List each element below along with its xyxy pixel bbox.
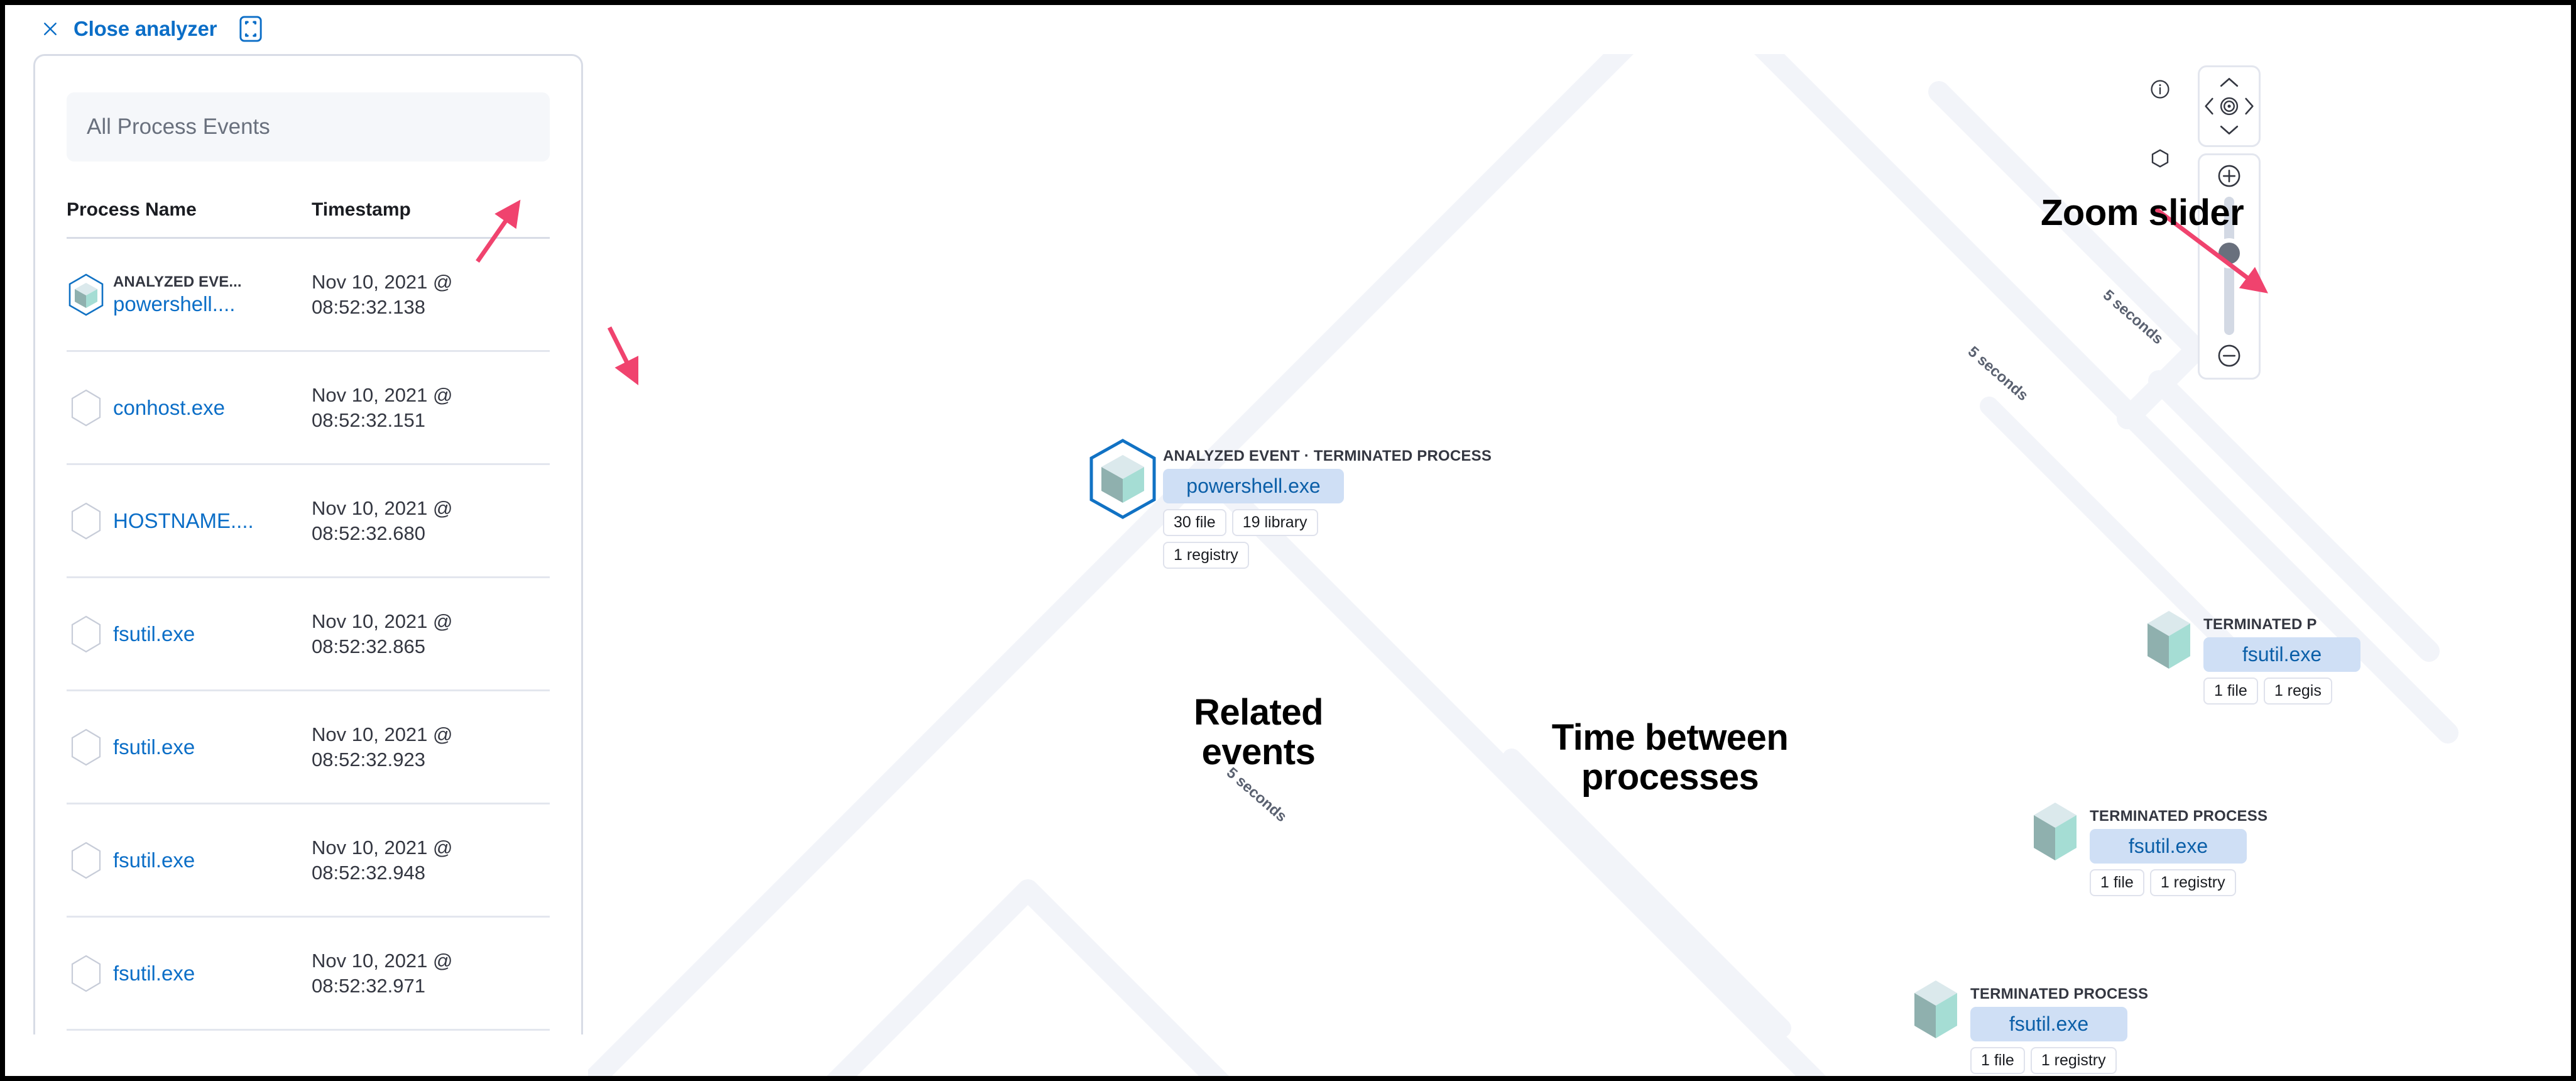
minus-circle-icon[interactable] [2216, 343, 2242, 369]
row-process-name-link[interactable]: fsutil.exe [113, 735, 195, 759]
timestamp-date: Nov 10, 2021 @ [312, 609, 453, 634]
timestamp-date: Nov 10, 2021 @ [312, 948, 453, 974]
table-header: Process Name Timestamp [67, 199, 550, 239]
annotation-time-between-line2: processes [1504, 758, 1836, 798]
hexagon-outline-icon [67, 728, 106, 766]
analyzer-toolbar: Close analyzer [5, 5, 2571, 53]
cell-process-name: fsutil.exe [67, 728, 312, 766]
related-badge-registry[interactable]: 1 registry [2031, 1047, 2117, 1074]
cell-timestamp: Nov 10, 2021 @08:52:32.971 [312, 948, 453, 998]
column-header-process-name: Process Name [67, 199, 312, 221]
node-related-badges: 30 file 19 library 1 registry [1163, 509, 1402, 569]
cell-timestamp: Nov 10, 2021 @08:52:32.680 [312, 496, 453, 546]
related-badge-registry[interactable]: 1 registry [2150, 869, 2236, 896]
graph-node-fsutil-top-right[interactable]: TERMINATED P fsutil.exe 1 file 1 regis [2141, 607, 2360, 705]
pan-control-panel[interactable] [2198, 65, 2261, 147]
related-badge-file[interactable]: 30 file [1163, 509, 1226, 536]
chevron-up-icon[interactable] [2219, 73, 2240, 92]
cell-process-name: HOSTNAME.... [67, 502, 312, 540]
node-related-badges: 1 file 1 regis [2203, 678, 2360, 705]
cell-process-name: fsutil.exe [67, 615, 312, 653]
process-cube-icon [2027, 799, 2083, 871]
hexagon-outline-icon [67, 955, 106, 992]
node-process-name[interactable]: powershell.exe [1163, 469, 1344, 503]
cell-process-name: fsutil.exe [67, 955, 312, 992]
plus-circle-icon[interactable] [2216, 163, 2242, 189]
graph-node-powershell[interactable]: ANALYZED EVENT · TERMINATED PROCESS powe… [1089, 439, 1492, 569]
annotation-zoom-slider: Zoom slider [2041, 194, 2244, 233]
related-badge-library[interactable]: 19 library [1232, 509, 1318, 536]
search-input[interactable]: All Process Events [67, 92, 550, 162]
cell-timestamp: Nov 10, 2021 @08:52:32.151 [312, 383, 453, 432]
zoom-control-panel[interactable] [2198, 153, 2261, 380]
cell-timestamp: Nov 10, 2021 @08:52:32.138 [312, 270, 453, 319]
process-events-list: ANALYZED EVE...powershell....Nov 10, 202… [67, 239, 550, 1031]
process-name-column: fsutil.exe [113, 622, 195, 646]
process-events-panel: All Process Events Process Name Timestam… [33, 54, 583, 1034]
hexagon-outline-icon [67, 842, 106, 879]
chevron-left-icon[interactable] [2203, 96, 2215, 116]
timestamp-date: Nov 10, 2021 @ [312, 835, 453, 860]
close-analyzer-button[interactable]: Close analyzer [74, 17, 217, 41]
table-row[interactable]: HOSTNAME....Nov 10, 2021 @08:52:32.680 [67, 465, 550, 578]
node-eyebrow: TERMINATED P [2203, 616, 2360, 634]
related-badge-file[interactable]: 1 file [2090, 869, 2144, 896]
column-header-timestamp: Timestamp [312, 199, 411, 221]
chevron-down-icon[interactable] [2219, 121, 2240, 140]
timestamp-time: 08:52:32.865 [312, 634, 453, 659]
node-process-name[interactable]: fsutil.exe [2203, 637, 2360, 672]
hexagon-icon[interactable] [2146, 145, 2174, 172]
annotation-related-events: Related events [1167, 693, 1350, 772]
annotation-related-events-line1: Related [1167, 693, 1350, 733]
annotation-related-events-line2: events [1167, 733, 1350, 772]
graph-edges [588, 54, 2576, 1081]
cell-process-name: ANALYZED EVE...powershell.... [67, 273, 312, 316]
node-eyebrow: TERMINATED PROCESS [2090, 808, 2268, 825]
process-name-column: fsutil.exe [113, 962, 195, 985]
cell-timestamp: Nov 10, 2021 @08:52:32.948 [312, 835, 453, 885]
process-cube-icon [2141, 607, 2197, 679]
table-row[interactable]: fsutil.exeNov 10, 2021 @08:52:32.948 [67, 804, 550, 918]
table-row[interactable]: conhost.exeNov 10, 2021 @08:52:32.151 [67, 352, 550, 465]
cell-process-name: fsutil.exe [67, 842, 312, 879]
cell-timestamp: Nov 10, 2021 @08:52:32.865 [312, 609, 453, 659]
graph-node-fsutil-bottom[interactable]: TERMINATED PROCESS fsutil.exe 1 file 1 r… [1907, 977, 2148, 1074]
target-center-icon[interactable] [2218, 95, 2240, 118]
hexagon-outline-icon [67, 389, 106, 427]
timestamp-date: Nov 10, 2021 @ [312, 722, 453, 747]
node-related-badges: 1 file 1 registry [2090, 869, 2268, 896]
timestamp-time: 08:52:32.151 [312, 408, 453, 433]
row-process-name-link[interactable]: fsutil.exe [113, 622, 195, 646]
process-name-column: fsutil.exe [113, 735, 195, 759]
hexagon-outline-icon [67, 502, 106, 540]
row-process-name-link[interactable]: HOSTNAME.... [113, 509, 254, 533]
node-eyebrow: TERMINATED PROCESS [1970, 985, 2148, 1003]
timestamp-time: 08:52:32.971 [312, 974, 453, 999]
row-process-name-link[interactable]: fsutil.exe [113, 848, 195, 872]
process-name-column: fsutil.exe [113, 848, 195, 872]
process-name-column: HOSTNAME.... [113, 509, 254, 533]
process-cube-icon-selected [1089, 439, 1157, 522]
search-placeholder: All Process Events [87, 114, 270, 140]
process-cube-icon-selected [67, 273, 106, 316]
zoom-slider-thumb[interactable] [2214, 238, 2244, 268]
table-row[interactable]: fsutil.exeNov 10, 2021 @08:52:32.923 [67, 691, 550, 804]
process-name-column: ANALYZED EVE...powershell.... [113, 273, 242, 316]
related-badge-registry[interactable]: 1 registry [1163, 542, 1249, 569]
node-process-name[interactable]: fsutil.exe [2090, 829, 2247, 864]
node-eyebrow: ANALYZED EVENT · TERMINATED PROCESS [1163, 447, 1492, 465]
timestamp-date: Nov 10, 2021 @ [312, 383, 453, 408]
table-row[interactable]: ANALYZED EVE...powershell....Nov 10, 202… [67, 239, 550, 352]
info-circle-icon[interactable] [2146, 75, 2174, 103]
timestamp-time: 08:52:32.948 [312, 860, 453, 886]
timestamp-time: 08:52:32.680 [312, 521, 453, 546]
cell-timestamp: Nov 10, 2021 @08:52:32.923 [312, 722, 453, 772]
row-process-name-link[interactable]: fsutil.exe [113, 962, 195, 985]
row-process-name-link[interactable]: conhost.exe [113, 396, 225, 420]
cell-process-name: conhost.exe [67, 389, 312, 427]
chevron-right-icon[interactable] [2243, 96, 2256, 116]
table-row[interactable]: fsutil.exeNov 10, 2021 @08:52:32.971 [67, 918, 550, 1031]
process-graph-canvas[interactable]: 5 seconds 5 seconds 5 seconds ANALYZED E… [588, 54, 2576, 1081]
node-related-badges: 1 file 1 registry [1970, 1047, 2148, 1074]
close-x-icon[interactable] [40, 18, 61, 40]
node-process-name[interactable]: fsutil.exe [1970, 1007, 2127, 1041]
related-badge-registry[interactable]: 1 regis [2264, 678, 2332, 705]
timestamp-time: 08:52:32.923 [312, 747, 453, 772]
fullscreen-icon[interactable] [237, 15, 265, 43]
process-name-column: conhost.exe [113, 396, 225, 420]
annotation-time-between-processes: Time between processes [1504, 718, 1836, 797]
analyzer-window: Close analyzer All Process Events Proces… [0, 0, 2576, 1081]
timestamp-date: Nov 10, 2021 @ [312, 496, 453, 521]
timestamp-date: Nov 10, 2021 @ [312, 270, 453, 295]
graph-node-fsutil-middle[interactable]: TERMINATED PROCESS fsutil.exe 1 file 1 r… [2027, 799, 2268, 896]
process-cube-icon [1907, 977, 1964, 1049]
row-process-name-link[interactable]: powershell.... [113, 292, 242, 316]
related-badge-file[interactable]: 1 file [2203, 678, 2258, 705]
annotation-time-between-line1: Time between [1504, 718, 1836, 758]
table-row[interactable]: fsutil.exeNov 10, 2021 @08:52:32.865 [67, 578, 550, 691]
timestamp-time: 08:52:32.138 [312, 295, 453, 320]
row-eyebrow: ANALYZED EVE... [113, 273, 242, 291]
hexagon-outline-icon [67, 615, 106, 653]
related-badge-file[interactable]: 1 file [1970, 1047, 2025, 1074]
